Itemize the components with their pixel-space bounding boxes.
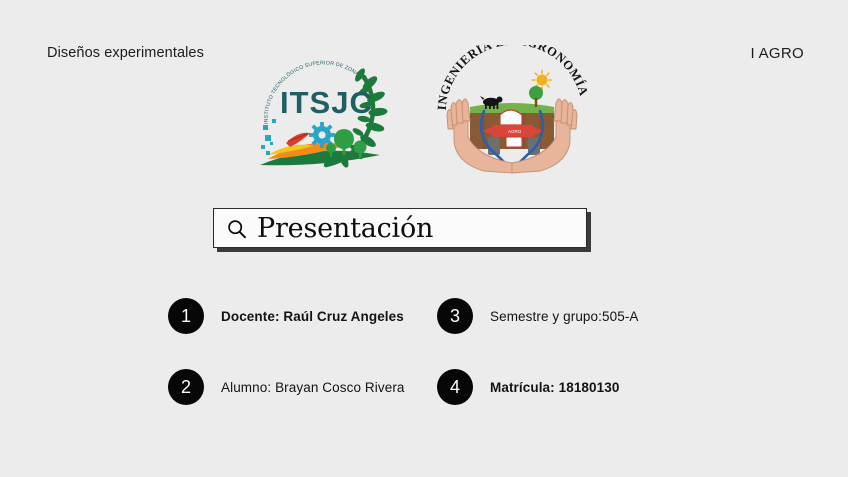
- item-label: Docente: Raúl Cruz Angeles: [221, 309, 404, 324]
- list-item: 3 Semestre y grupo:505-A: [437, 298, 639, 334]
- list-item: 1 Docente: Raúl Cruz Angeles: [168, 298, 404, 334]
- svg-text:ITSJC: ITSJC: [280, 85, 373, 120]
- item-number-badge: 1: [168, 298, 204, 334]
- item-number-badge: 3: [437, 298, 473, 334]
- item-number-badge: 4: [437, 369, 473, 405]
- presentation-title: Presentación: [257, 215, 433, 242]
- search-icon: [227, 219, 247, 239]
- item-label: Alumno: Brayan Cosco Rivera: [221, 380, 405, 395]
- list-item: 2 Alumno: Brayan Cosco Rivera: [168, 369, 405, 405]
- itsjc-logo: INSTITUTO TECNOLÓGICO SUPERIOR DE ZONA C…: [252, 47, 394, 175]
- item-number-badge: 2: [168, 369, 204, 405]
- svg-text:AGRO: AGRO: [508, 129, 522, 134]
- item-label: Semestre y grupo:505-A: [490, 309, 639, 324]
- header-right-title: I AGRO: [751, 45, 804, 62]
- list-item: 4 Matrícula: 18180130: [437, 369, 619, 405]
- ingenieria-agronomia-logo: INGENIERÍA EN AGRONOMÍA: [432, 45, 592, 175]
- item-label: Matrícula: 18180130: [490, 380, 619, 395]
- header-left-title: Diseños experimentales: [47, 45, 204, 61]
- presentation-title-box[interactable]: Presentación: [213, 208, 587, 248]
